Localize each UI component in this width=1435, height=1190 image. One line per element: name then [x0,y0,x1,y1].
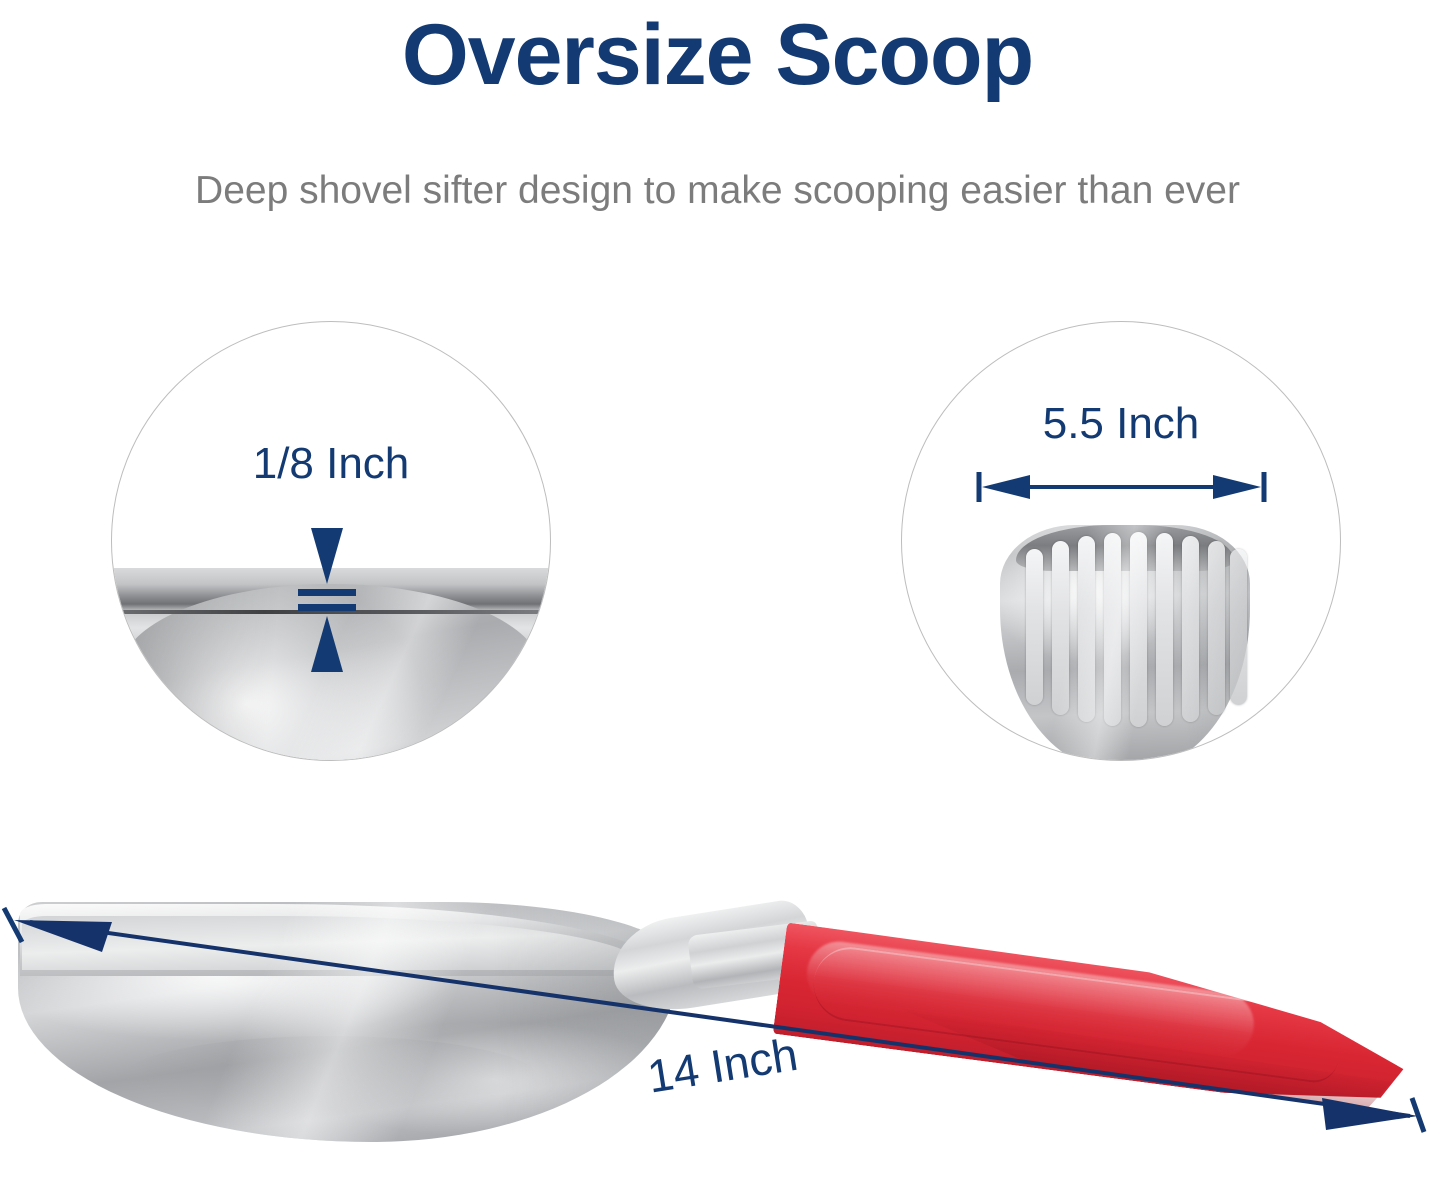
sifter-slot [1078,536,1095,722]
sifter-slot [1230,549,1247,705]
thickness-label: 1/8 Inch [112,439,550,489]
scoop-bowl-inner-shadow [120,1036,540,1122]
scoop-handle [773,922,1412,1115]
sifter-slot [1156,533,1173,726]
width-label: 5.5 Inch [902,399,1340,449]
sifter-slot [1182,536,1199,722]
arrow-up-icon [311,616,343,672]
inset-circle-thickness: 1/8 Inch [111,321,551,761]
arrow-down-icon [311,528,343,584]
product-infographic: Oversize Scoop Deep shovel sifter design… [0,0,1435,1190]
thickness-bar-upper [298,589,356,596]
sifter-slot [1026,549,1043,705]
inset-circle-width: 5.5 Inch [901,321,1341,761]
page-subtitle: Deep shovel sifter design to make scoopi… [0,168,1435,215]
slotted-sifter-head [1000,525,1250,761]
double-arrow-horizontal-icon [974,470,1269,504]
sifter-slot [1104,533,1121,726]
sifter-slot [1052,541,1069,715]
product-photo [0,860,1435,1190]
sifter-slot [1208,541,1225,715]
thickness-bar-lower [298,604,356,611]
page-title: Oversize Scoop [0,8,1435,103]
sifter-slot [1130,532,1147,727]
